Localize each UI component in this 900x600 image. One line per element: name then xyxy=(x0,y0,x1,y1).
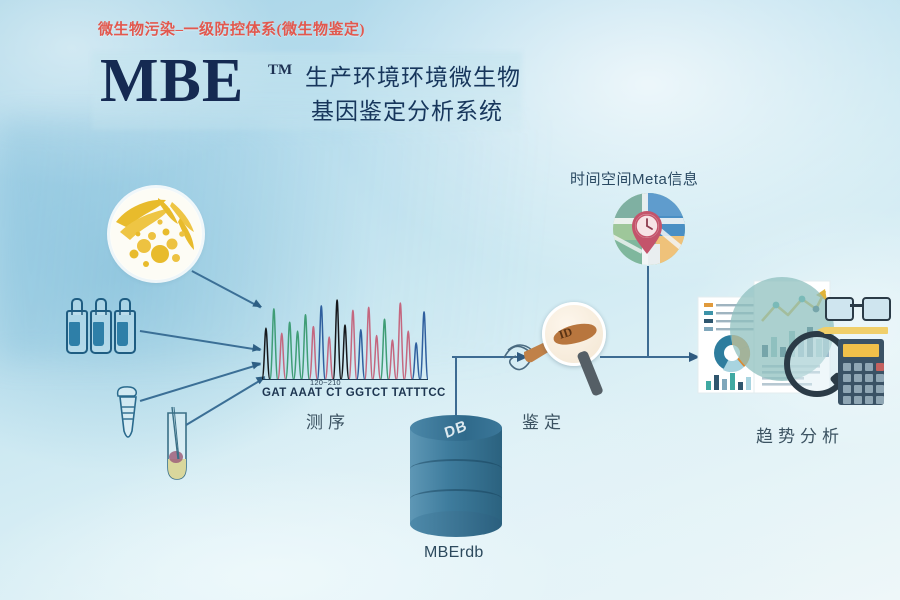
calculator-screen xyxy=(843,344,879,357)
chromatogram-peak-T xyxy=(388,340,396,380)
ampoule-icon-1 xyxy=(66,298,84,350)
chromatogram-range-label: 120~210 xyxy=(310,378,341,387)
meta-info-label: 时间空间Meta信息 xyxy=(570,168,698,189)
pencil-icon xyxy=(824,327,888,334)
step-label-sequencing: 测序 xyxy=(306,408,350,433)
petri-dish-icon xyxy=(110,188,202,280)
ampoule-icon-2 xyxy=(90,298,108,350)
database-label: MBErdb xyxy=(424,544,484,562)
database-cylinder-icon: DB xyxy=(410,415,502,537)
ampoule-liquid xyxy=(117,322,128,346)
chromatogram-peak-T xyxy=(278,333,286,380)
trend-analysis-icon xyxy=(692,275,892,410)
chromatogram-peak-A xyxy=(270,309,278,380)
chromatogram-peak-T xyxy=(325,337,333,380)
calculator-key xyxy=(865,363,873,371)
chromatogram-peak-A xyxy=(301,315,309,380)
page-red-title: 微生物污染–一级防控体系(微生物鉴定) xyxy=(98,18,365,39)
map-clock-icon xyxy=(612,192,686,266)
glasses-lens-right xyxy=(862,297,891,321)
magnifier-lens: ID xyxy=(542,302,606,366)
calculator-key xyxy=(843,385,851,393)
calculator-key xyxy=(854,385,862,393)
chromatogram-peak-T xyxy=(309,327,317,380)
test-tube-shape xyxy=(160,405,196,485)
database-bottom xyxy=(410,511,502,537)
ampoule-liquid xyxy=(69,322,80,346)
chromatogram-peak-G xyxy=(333,300,341,380)
calculator-icon xyxy=(838,339,884,405)
header-subtitle: 生产环境环境微生物 基因鉴定分析系统 xyxy=(305,60,521,128)
logo-mbe: MBE xyxy=(100,50,244,112)
calculator-key xyxy=(843,374,851,382)
calculator-key xyxy=(865,374,873,382)
calculator-key xyxy=(854,363,862,371)
glasses-lens-left xyxy=(825,297,854,321)
chromatogram-peak-T xyxy=(404,331,412,380)
header-subtitle-line1: 生产环境环境微生物 xyxy=(305,60,521,94)
ampoule-icon-3 xyxy=(114,298,132,350)
map-clock-glyph xyxy=(612,192,686,266)
chromatogram-baseline xyxy=(262,379,428,380)
chromatogram-peak-C xyxy=(412,343,420,380)
calculator-key xyxy=(876,374,884,382)
arrow-identification-to-trend xyxy=(600,356,698,358)
connector-sequencing-to-database xyxy=(455,356,457,418)
calculator-key xyxy=(843,396,851,404)
chromatogram-peak-A xyxy=(380,319,388,380)
calculator-key-accent xyxy=(876,363,884,371)
test-tube-icon xyxy=(160,405,188,477)
calculator-key xyxy=(854,374,862,382)
step-label-trend: 趋势分析 xyxy=(756,422,844,447)
microtube-icon xyxy=(110,385,136,441)
calculator-key xyxy=(865,396,873,404)
header-subtitle-line2: 基因鉴定分析系统 xyxy=(305,94,521,128)
ampoule-liquid xyxy=(93,322,104,346)
chromatogram-peak-G xyxy=(262,328,270,380)
glasses-bridge xyxy=(850,304,862,307)
calculator-key xyxy=(876,396,884,404)
chromatogram-peak-A xyxy=(293,331,301,380)
calculator-key xyxy=(854,396,862,404)
chromatogram-peak-T xyxy=(365,307,373,380)
database-ring-2 xyxy=(410,489,502,509)
calculator-key xyxy=(865,385,873,393)
chromatogram-peak-T xyxy=(396,303,404,380)
chromatogram-peak-C xyxy=(420,312,428,380)
trademark-mark: TM xyxy=(268,62,292,79)
calculator-key xyxy=(843,363,851,371)
step-label-identification: 鉴定 xyxy=(522,408,566,433)
microtube-shape xyxy=(110,385,150,449)
chromatogram-peak-T xyxy=(349,310,357,380)
connector-meta-to-flow xyxy=(647,266,649,358)
chromatogram-peak-C xyxy=(357,330,365,380)
chromatogram-sequence-text: GAT AAAT CT GGTCT TATTTCC xyxy=(262,387,446,399)
database-ring-1 xyxy=(410,459,502,479)
poster-canvas: 微生物污染–一级防控体系(微生物鉴定) MBE TM 生产环境环境微生物 基因鉴… xyxy=(0,0,900,600)
chromatogram-peak-T xyxy=(373,336,381,380)
chromatogram-peak-G xyxy=(341,325,349,380)
chromatogram-peak-C xyxy=(317,306,325,380)
chromatogram-traces xyxy=(262,296,428,380)
petri-dish-colonies xyxy=(110,188,202,280)
glasses-icon xyxy=(825,297,887,319)
chromatogram-chart xyxy=(262,296,428,380)
calculator-key xyxy=(876,385,884,393)
identification-icon: ID xyxy=(498,300,618,410)
chromatogram-peak-A xyxy=(286,322,294,380)
